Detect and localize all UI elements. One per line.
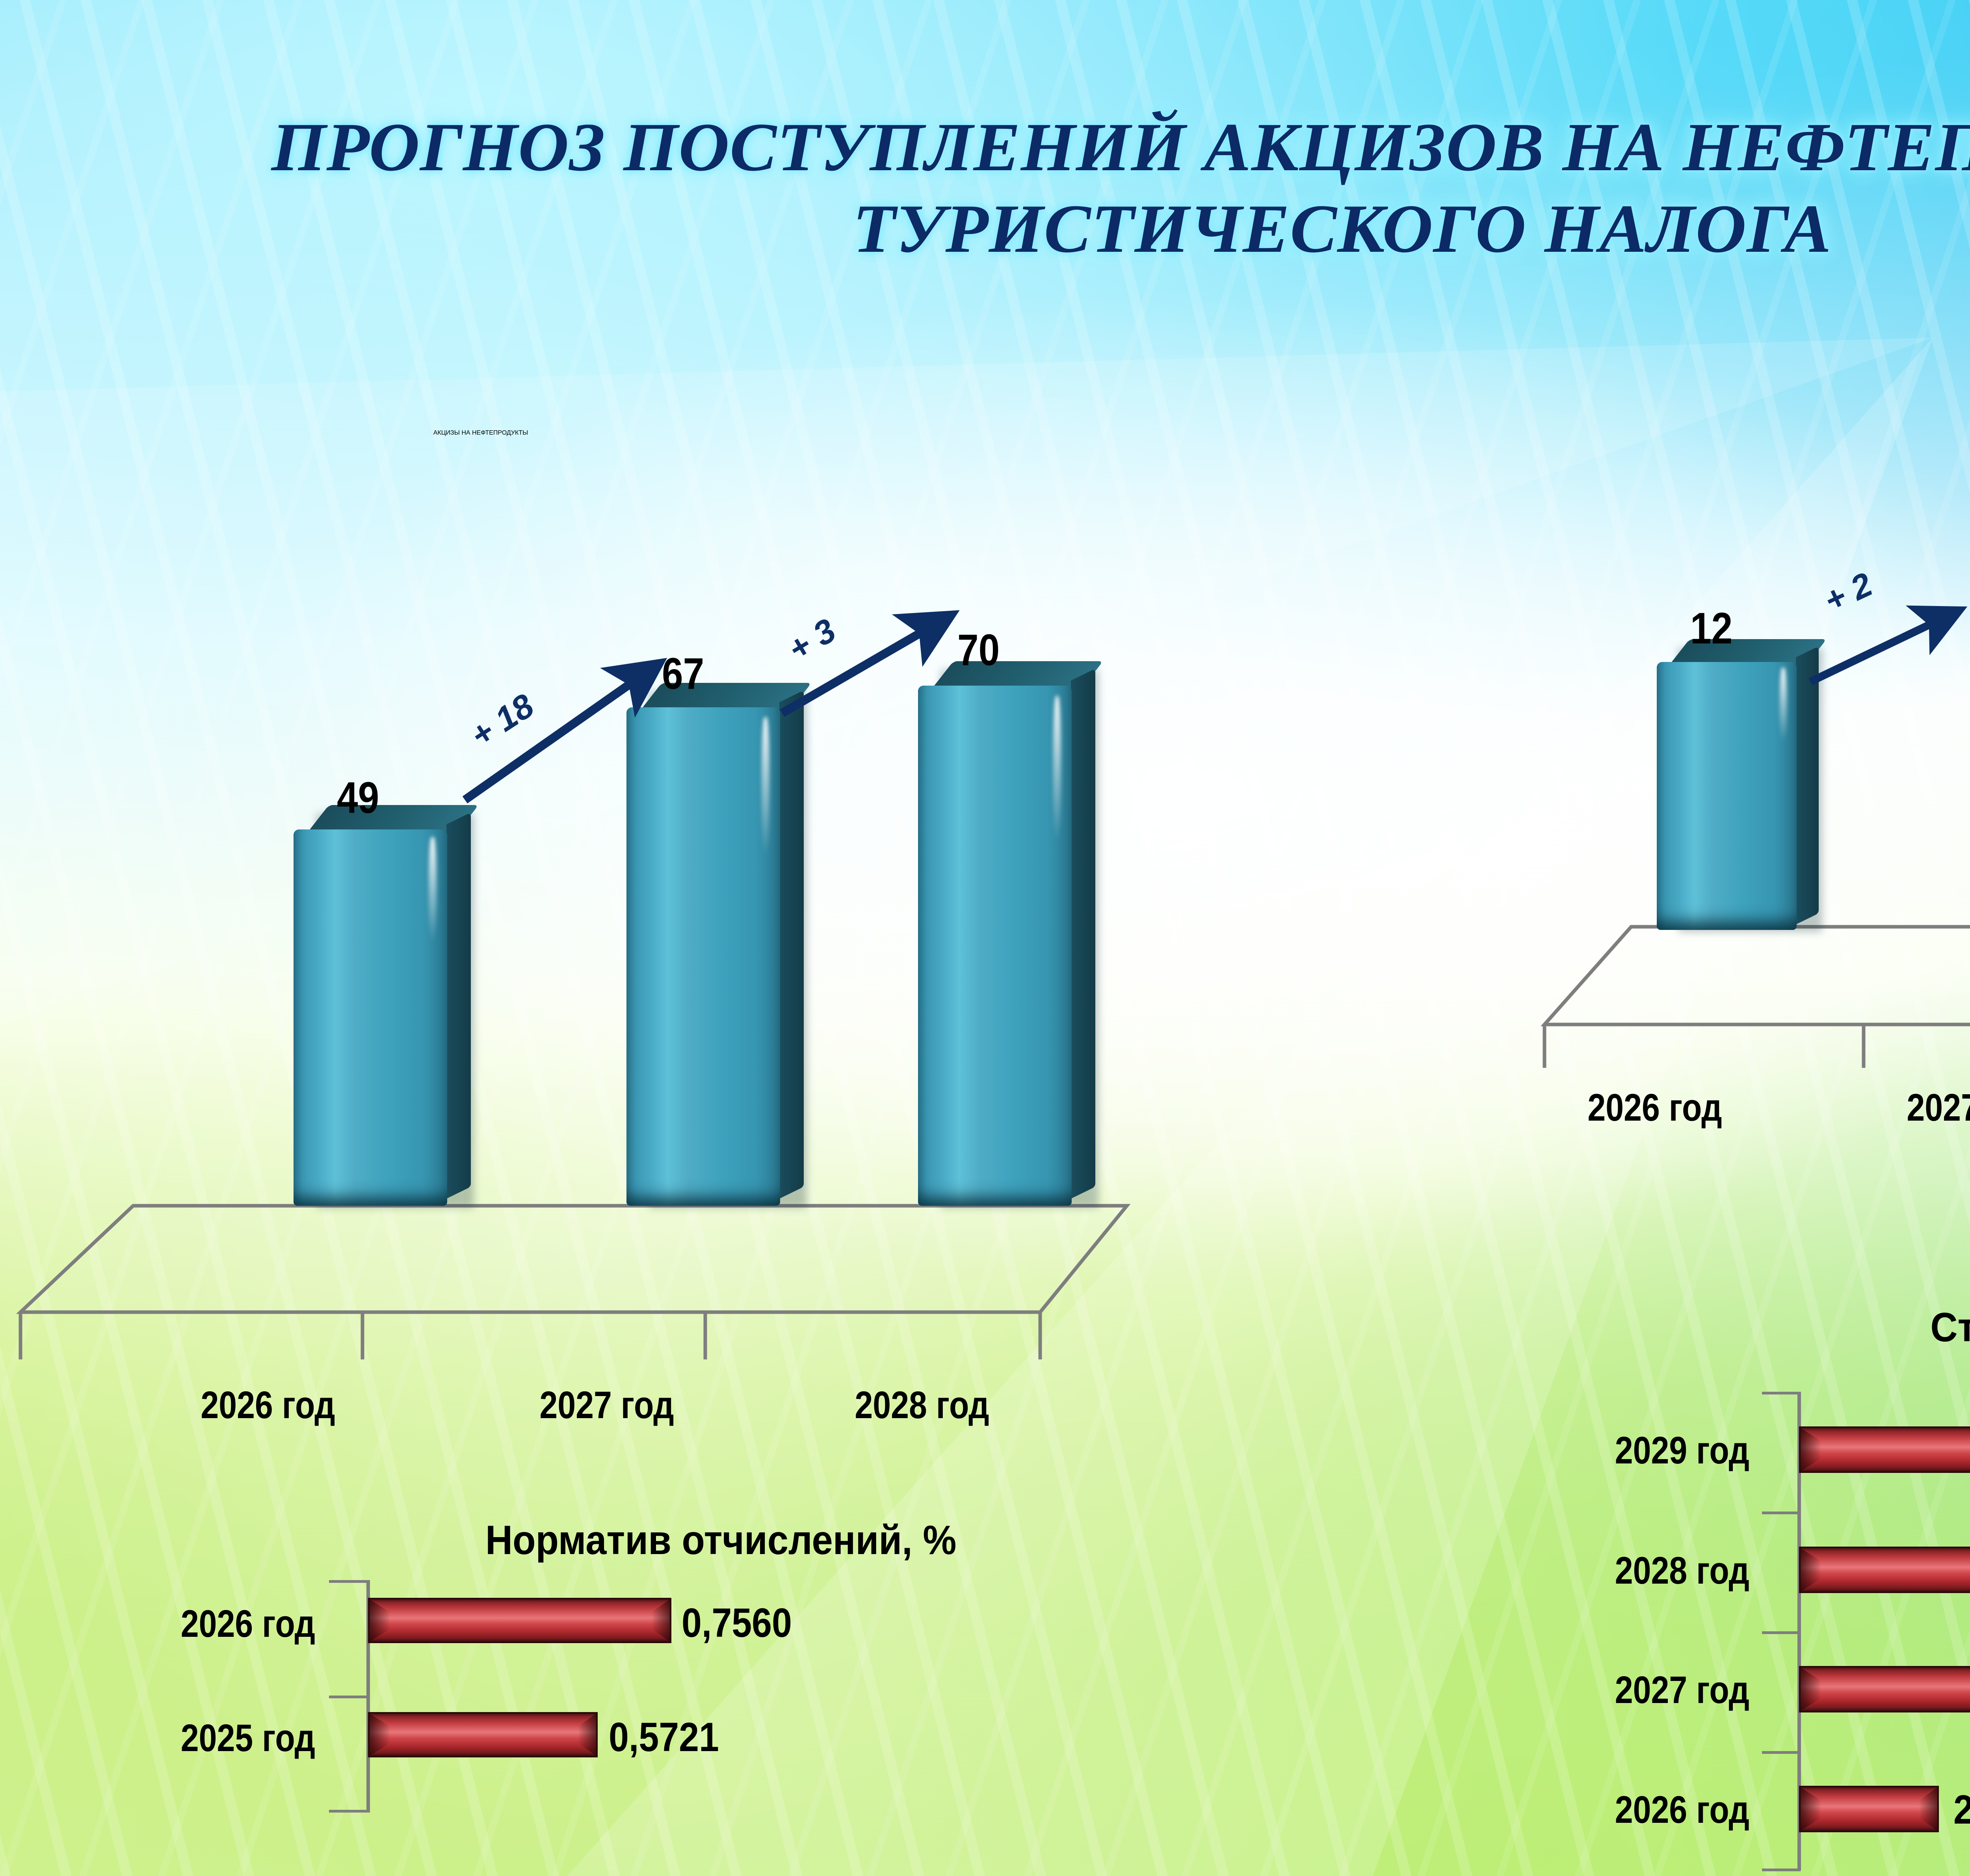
- bar-left-bevel: [370, 1599, 390, 1642]
- taxrate-bar-2029: [1799, 1426, 1970, 1473]
- normative-axis-tick: [329, 1810, 368, 1813]
- normative-axis-tick: [329, 1580, 368, 1583]
- normative-chart-title: Норматив отчислений, %: [485, 1517, 956, 1564]
- bar-left-bevel: [1801, 1428, 1821, 1471]
- tourist-floor: [1497, 918, 1970, 1084]
- bar-side-face: [1071, 669, 1095, 1199]
- normative-row-label-2026: 2026 год: [47, 1602, 315, 1646]
- bar-left-bevel: [1801, 1548, 1821, 1592]
- taxrate-axis-tick: [1762, 1512, 1801, 1514]
- bar-front-face: [1657, 662, 1797, 930]
- excise-bar-2026: [294, 829, 447, 1206]
- tourist-category-2027: 2027 год: [1823, 1086, 1970, 1130]
- taxrate-row-label-2028: 2028 год: [1468, 1549, 1749, 1593]
- excise-column-chart: 49 67 70 + 18 + 3 2026 год 2027 год: [0, 512, 1202, 1438]
- taxrate-bar-2028: [1799, 1547, 1970, 1593]
- normative-bar-2025: [368, 1712, 598, 1757]
- bar-side-face: [446, 812, 471, 1199]
- taxrate-bar-2026: [1799, 1786, 1939, 1832]
- normative-bar-2026: [368, 1598, 671, 1643]
- normative-row-label-2025: 2025 год: [47, 1716, 315, 1760]
- taxrate-value-2026: 2%: [1953, 1787, 1970, 1833]
- bar-left-bevel: [1801, 1787, 1821, 1831]
- taxrate-axis-tick: [1762, 1751, 1801, 1754]
- excise-category-2028: 2028 год: [805, 1383, 1039, 1427]
- chart-title-tourist: ТУРИСТИЧЕСКИЙ НАЛОГ: [1635, 431, 1970, 439]
- excise-category-2027: 2027 год: [490, 1383, 724, 1427]
- taxrate-chart-title: Ставка налога: [1930, 1304, 1970, 1351]
- bar-front-face: [918, 686, 1072, 1206]
- bar-right-bevel: [652, 1599, 670, 1642]
- taxrate-row-label-2027: 2027 год: [1468, 1668, 1749, 1712]
- tourist-value-2026: 12: [1690, 603, 1732, 654]
- taxrate-row-label-2026: 2026 год: [1468, 1788, 1749, 1832]
- tourist-column-chart: 12 14 16 + 2 + 2 2026 год 2027 год 2: [1497, 512, 1970, 1182]
- normative-hbar-chart: Норматив отчислений, % 2026 год 0,7560 2…: [0, 1513, 1300, 1876]
- taxrate-axis-tick: [1762, 1631, 1801, 1634]
- taxrate-axis-tick: [1762, 1869, 1801, 1871]
- normative-value-2025: 0,5721: [609, 1714, 719, 1761]
- taxrate-axis-tick: [1762, 1392, 1801, 1394]
- bar-left-bevel: [370, 1714, 390, 1756]
- taxrate-hbar-chart: Ставка налога 2029 год 5% 2028 год 4% 20…: [1418, 1292, 1970, 1876]
- tourist-bar-2026: [1657, 662, 1797, 930]
- excise-category-2026: 2026 год: [151, 1383, 385, 1427]
- taxrate-bar-2027: [1799, 1666, 1970, 1712]
- bar-right-bevel: [1919, 1787, 1937, 1831]
- normative-axis-tick: [329, 1696, 368, 1698]
- chart-title-excise: АКЦИЗЫ НА НЕФТЕПРОДУКТЫ: [0, 429, 961, 437]
- taxrate-row-label-2029: 2029 год: [1468, 1428, 1749, 1473]
- tourist-category-2026: 2026 год: [1504, 1086, 1806, 1130]
- bar-side-face: [779, 690, 804, 1199]
- excise-floor: [0, 1194, 1143, 1379]
- bar-front-face: [294, 829, 447, 1206]
- bar-left-bevel: [1801, 1668, 1821, 1711]
- page-title: ПРОГНОЗ ПОСТУПЛЕНИЙ АКЦИЗОВ НА НЕФТЕПРОД…: [0, 106, 1970, 269]
- bar-right-bevel: [578, 1714, 596, 1756]
- excise-value-2026: 49: [337, 772, 379, 823]
- normative-value-2026: 0,7560: [682, 1600, 792, 1647]
- excise-bar-2028: [918, 686, 1072, 1206]
